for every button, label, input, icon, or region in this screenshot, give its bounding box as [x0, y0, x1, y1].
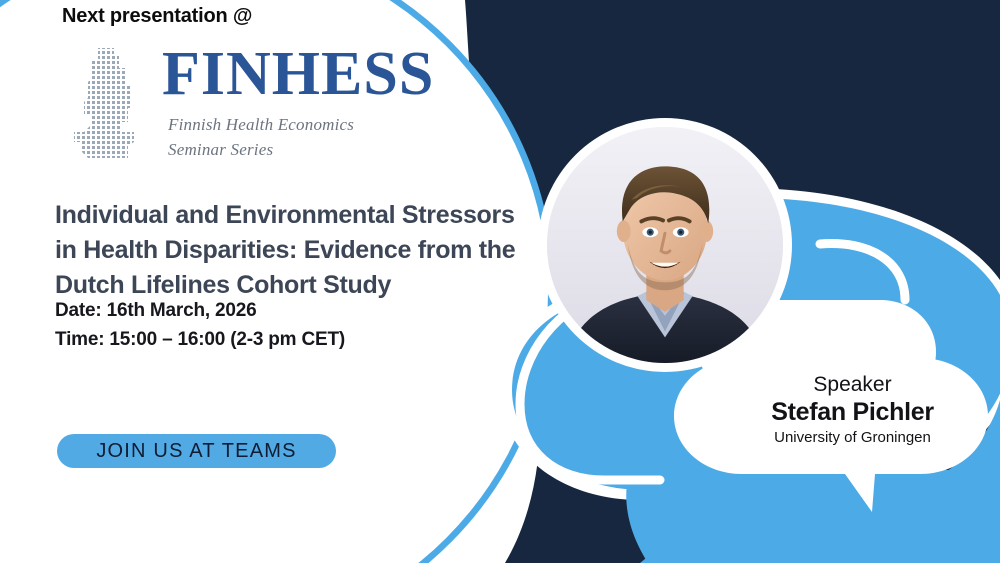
brand-tagline-line1: Finnish Health Economics	[168, 112, 434, 137]
talk-title-line1: Individual and Environmental Stressors	[55, 198, 555, 233]
left-content-column: Next presentation @ FINHESS Finnish Heal…	[0, 0, 560, 563]
finland-dot-map-icon	[62, 46, 134, 164]
avatar	[547, 127, 783, 363]
talk-time: Time: 15:00 – 16:00 (2-3 pm CET)	[55, 325, 555, 354]
finhess-logo: FINHESS Finnish Health Economics Seminar…	[62, 44, 462, 174]
speaker-portrait-image	[547, 127, 783, 363]
speaker-name: Stefan Pichler	[735, 397, 970, 427]
talk-title-line2: in Health Disparities: Evidence from the	[55, 233, 555, 268]
speaker-role-label: Speaker	[735, 372, 970, 397]
brand-tagline-line2: Seminar Series	[168, 137, 434, 162]
brand-wordmark: FINHESS	[162, 42, 434, 106]
talk-title: Individual and Environmental Stressors i…	[55, 198, 555, 303]
talk-date: Date: 16th March, 2026	[55, 296, 555, 325]
speaker-info: Speaker Stefan Pichler University of Gro…	[735, 372, 970, 449]
speaker-portrait-frame	[538, 118, 792, 372]
kicker-text: Next presentation @	[62, 5, 252, 28]
join-button-label: JOIN US AT TEAMS	[96, 440, 296, 463]
speaker-affiliation: University of Groningen	[735, 427, 970, 449]
join-us-at-teams-button[interactable]: JOIN US AT TEAMS	[57, 434, 336, 468]
seminar-announcement-poster: Next presentation @ FINHESS Finnish Heal…	[0, 0, 1000, 563]
talk-meta: Date: 16th March, 2026 Time: 15:00 – 16:…	[55, 296, 555, 354]
